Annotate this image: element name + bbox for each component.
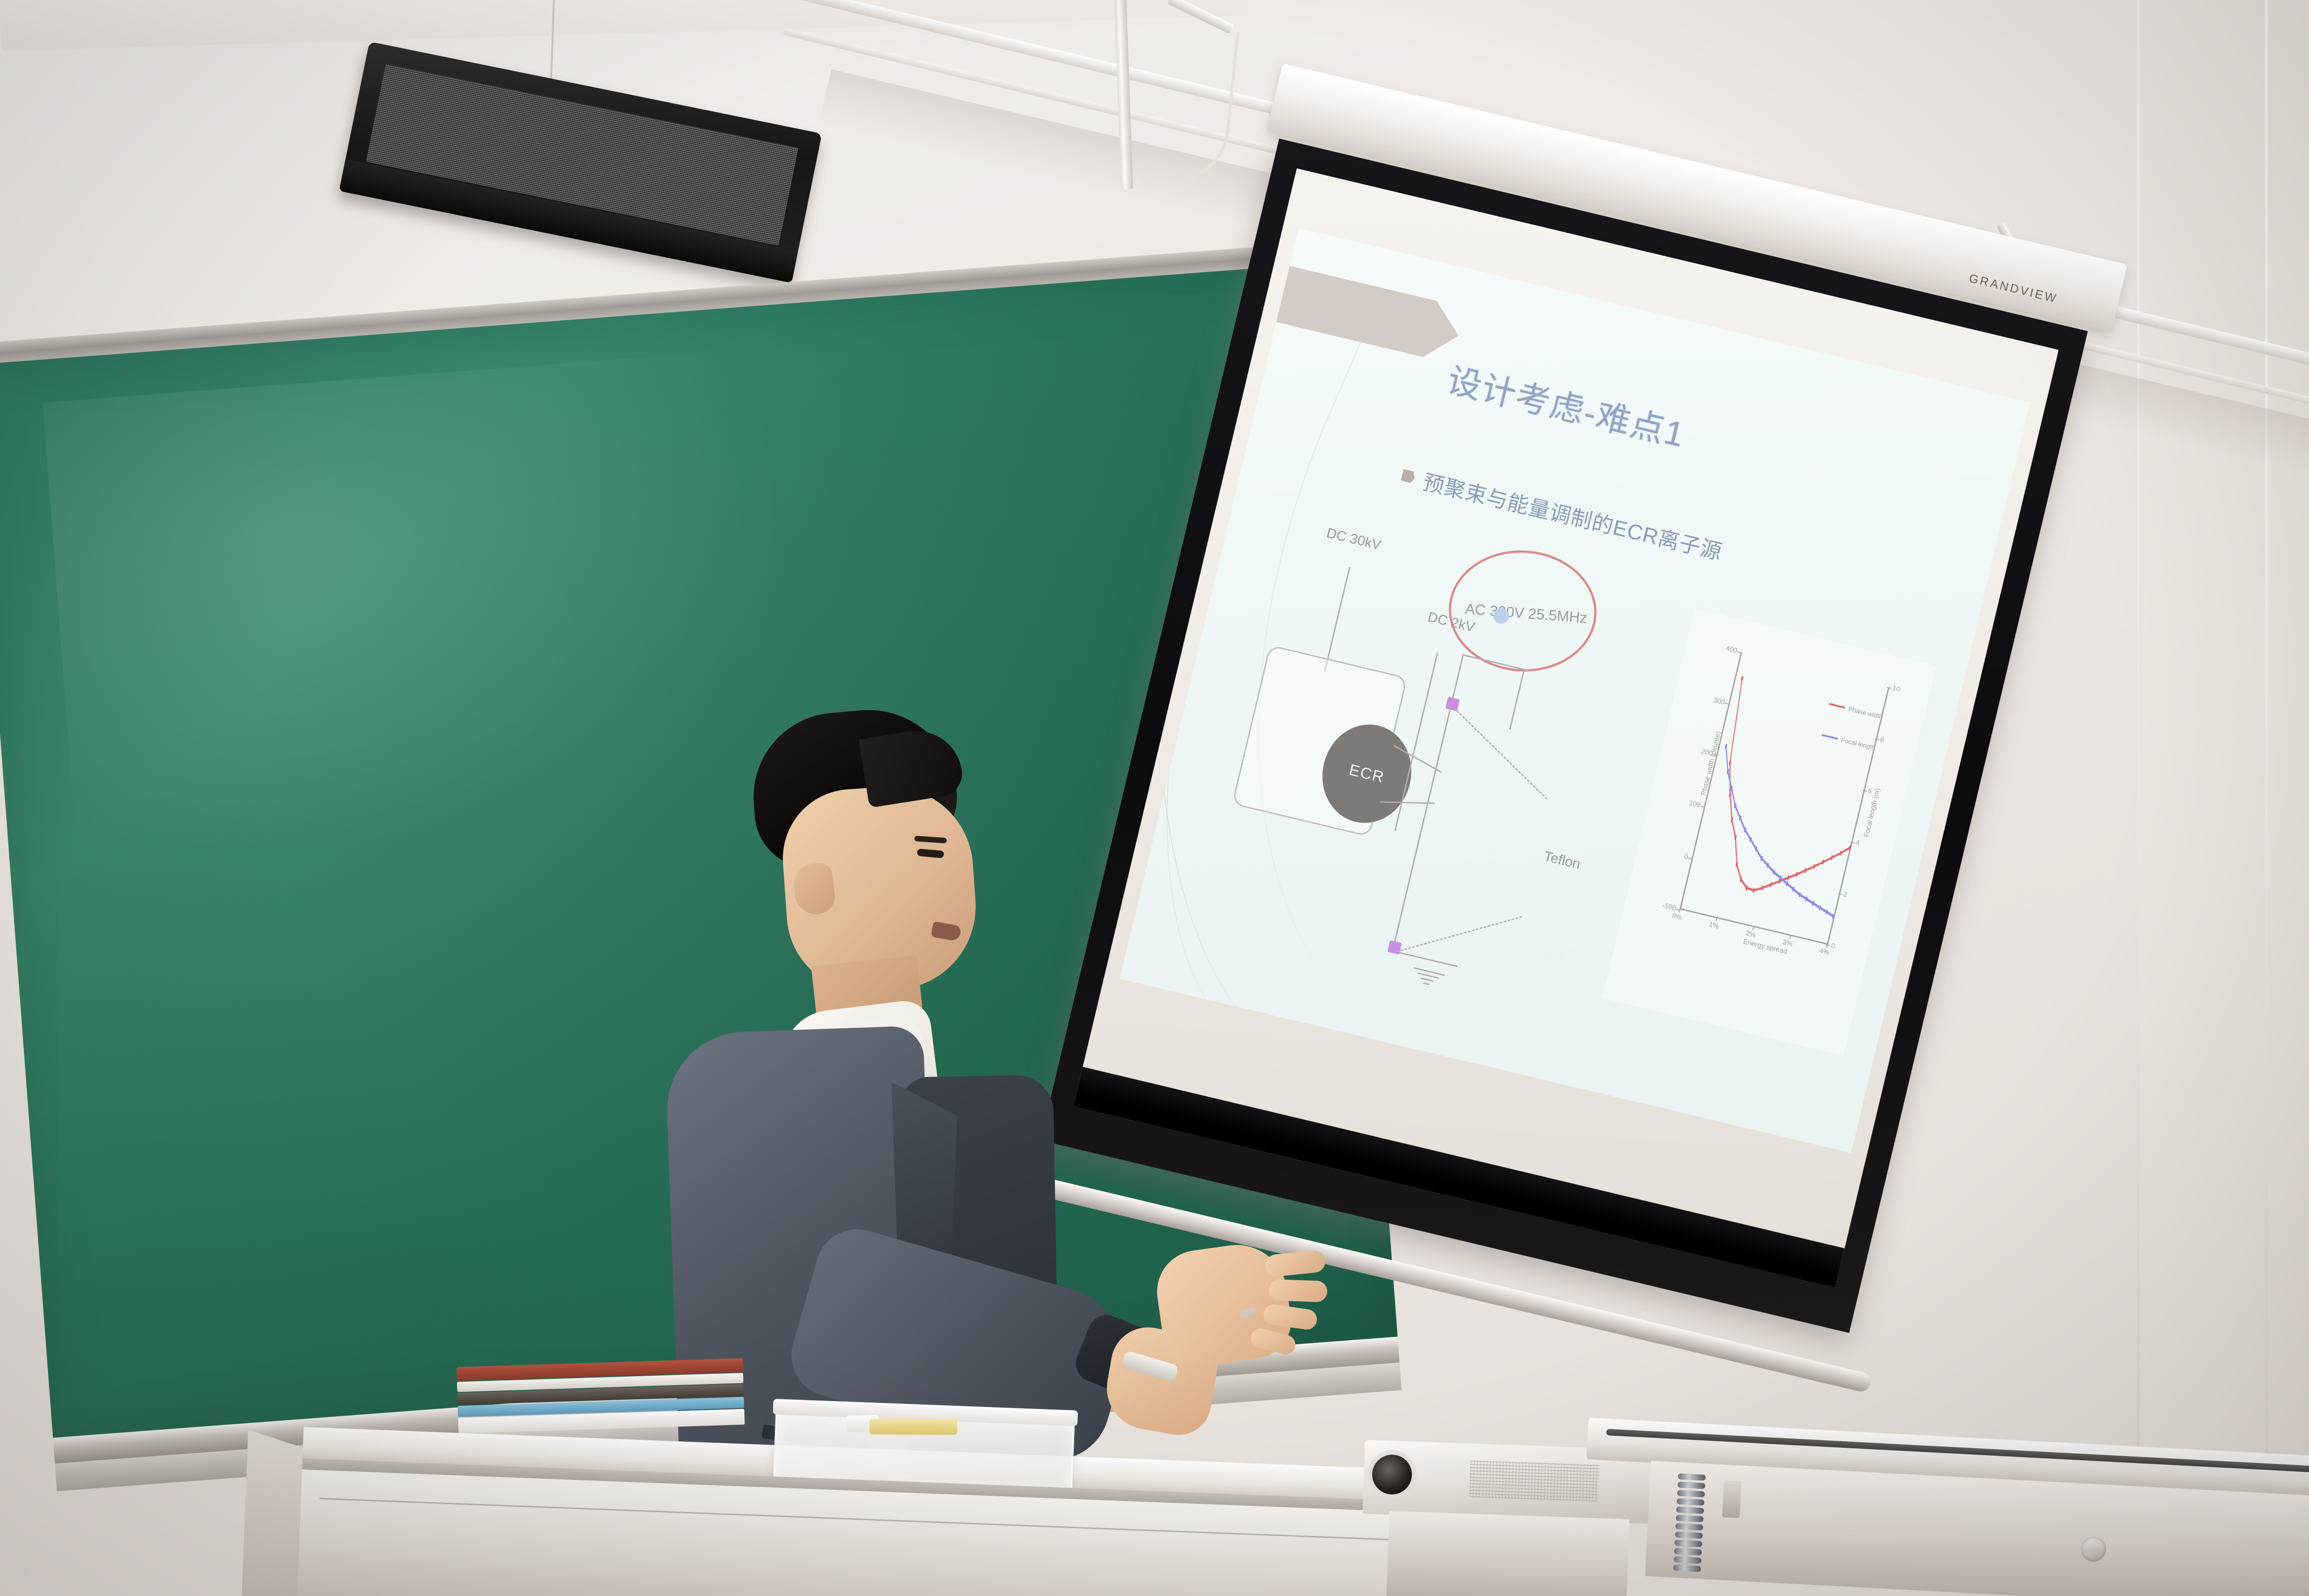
wall-corner-seam [2265, 0, 2268, 1596]
chart-x-tick: 3% [1782, 938, 1793, 949]
podium-hinge [1722, 1481, 1741, 1518]
chart-series-svg [1679, 652, 1888, 945]
chalk-yellow[interactable] [870, 1419, 957, 1435]
chart-y2-tick: 10 [1892, 684, 1901, 693]
finger-2 [1269, 1279, 1328, 1302]
bullet-arrow-icon [1401, 469, 1416, 484]
legend-swatch-phase-width [1829, 703, 1845, 709]
document-camera-vent-grille-icon [1469, 1460, 1600, 1502]
wall-seam-left [2137, 0, 2140, 1596]
wire-ac-left [1451, 654, 1464, 702]
chart-y-tick: 300 [1713, 696, 1726, 706]
chart-y-tickmark [1737, 651, 1741, 653]
chart-y-tick: 0 [1683, 852, 1689, 861]
stacked-books [456, 1358, 744, 1436]
right-wall-panel [2138, 0, 2309, 1596]
chart-y2-tick: 2 [1843, 890, 1848, 899]
chart-x-tickmark [1752, 926, 1754, 931]
legend-swatch-focal-length [1822, 734, 1838, 740]
chart-y-tick: 100 [1688, 799, 1701, 809]
chart-y2-tick: 4 [1855, 839, 1860, 847]
chart-x-tickmark [1679, 909, 1680, 913]
node-upper [1445, 696, 1459, 711]
chart-y2-axis-title: Focal length (m) [1862, 787, 1882, 838]
chart-x-tick: 2% [1745, 930, 1756, 940]
chart-y-tick: -100 [1662, 901, 1677, 912]
chart-plot-area: -1000100200300400 0246810 0%1%2%3%4% Pha… [1679, 652, 1888, 945]
label-teflon: Teflon [1542, 849, 1582, 873]
teflon-leader-upper [1453, 707, 1547, 799]
ground-symbol-icon [1410, 964, 1446, 991]
chart-x-tickmark [1716, 918, 1717, 922]
wire-ac-right [1509, 669, 1525, 730]
chart-y2-tick: 6 [1867, 787, 1873, 796]
wire-dc30 [1324, 567, 1350, 672]
chart-x-tick: 0% [1671, 912, 1683, 922]
chart-x-tick: 4% [1819, 947, 1830, 957]
chart-x-tickmark [1789, 935, 1791, 939]
classroom-photo: GRANDVIEW 设计考虑-难点1 预聚束与能量调制的ECR离子源 [0, 0, 2309, 1596]
wire-ground-lead [1391, 950, 1457, 967]
chart-y2-tick: 0 [1830, 942, 1836, 950]
chart-x-tick: 1% [1708, 921, 1720, 931]
chart-x-axis-title: Energy spread [1742, 938, 1788, 956]
wire-electrode-3 [1392, 854, 1416, 950]
chart-y2-tick: 8 [1879, 736, 1885, 744]
coiled-cable [1673, 1473, 1706, 1581]
screen-brand-label: GRANDVIEW [1968, 271, 2059, 306]
chart-y-tick: 400 [1725, 645, 1738, 655]
teflon-leader-lower [1396, 916, 1522, 952]
